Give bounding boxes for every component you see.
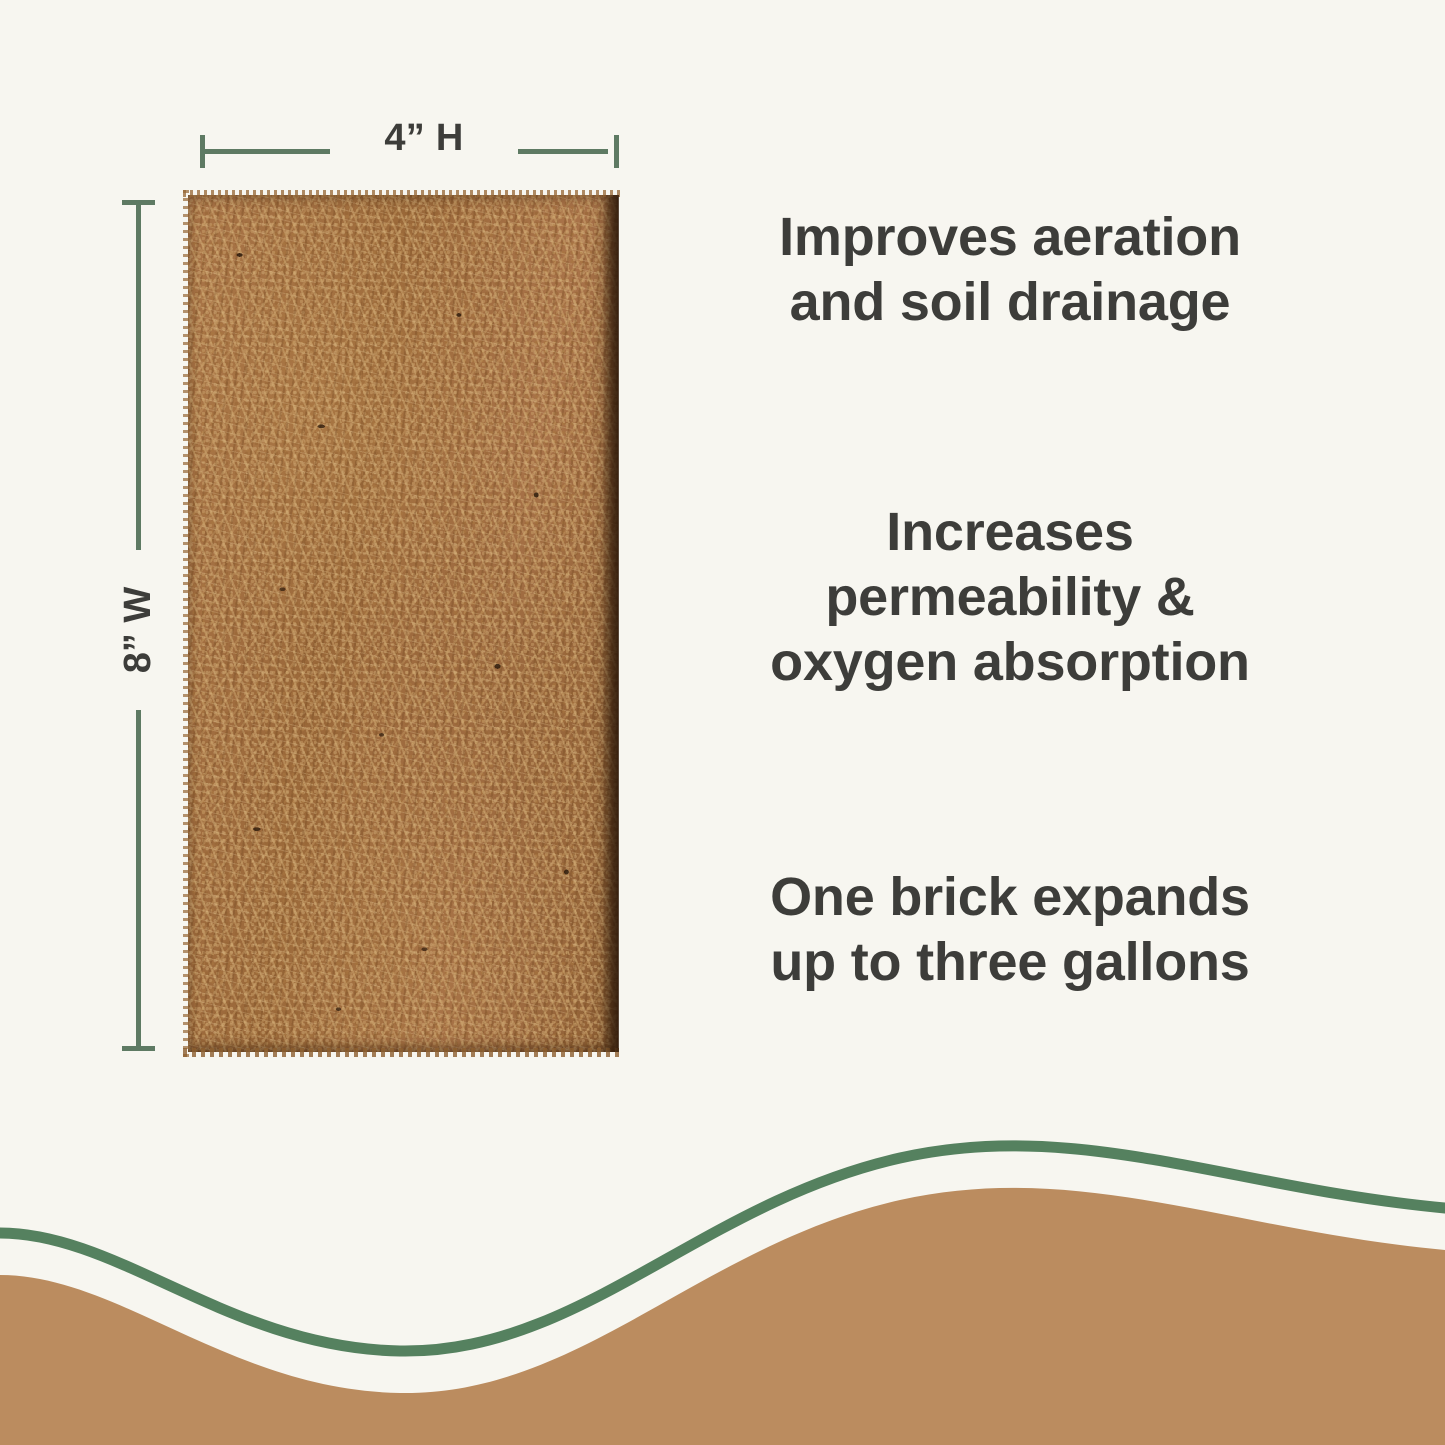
decorative-wave — [0, 1125, 1445, 1445]
width-dimension-cap-right — [614, 135, 619, 168]
benefit-line: permeability & — [700, 565, 1320, 630]
benefits-list: Improves aeration and soil drainage Incr… — [700, 0, 1320, 1100]
benefit-item-aeration: Improves aeration and soil drainage — [700, 205, 1320, 335]
height-dimension-rule-upper — [136, 200, 141, 560]
benefit-line: Increases — [700, 500, 1320, 565]
benefit-line: up to three gallons — [700, 930, 1320, 995]
width-dimension-label: 4” H — [330, 117, 518, 160]
height-dimension-cap-bottom — [122, 1046, 155, 1051]
benefit-line: Improves aeration — [700, 205, 1320, 270]
benefit-item-permeability: Increases permeability & oxygen absorpti… — [700, 500, 1320, 694]
benefit-line: and soil drainage — [700, 270, 1320, 335]
coco-coir-brick-image — [188, 195, 618, 1052]
benefit-item-expansion: One brick expands up to three gallons — [700, 865, 1320, 995]
height-dimension-rule-lower — [136, 700, 141, 1050]
benefit-line: One brick expands — [700, 865, 1320, 930]
benefit-line: oxygen absorption — [700, 630, 1320, 695]
height-dimension-label: 8” W — [73, 550, 203, 710]
infographic-canvas: 4” H 8” W Improves aeration and soil dra… — [0, 0, 1445, 1445]
brick-right-edge-shadow — [603, 195, 619, 1052]
